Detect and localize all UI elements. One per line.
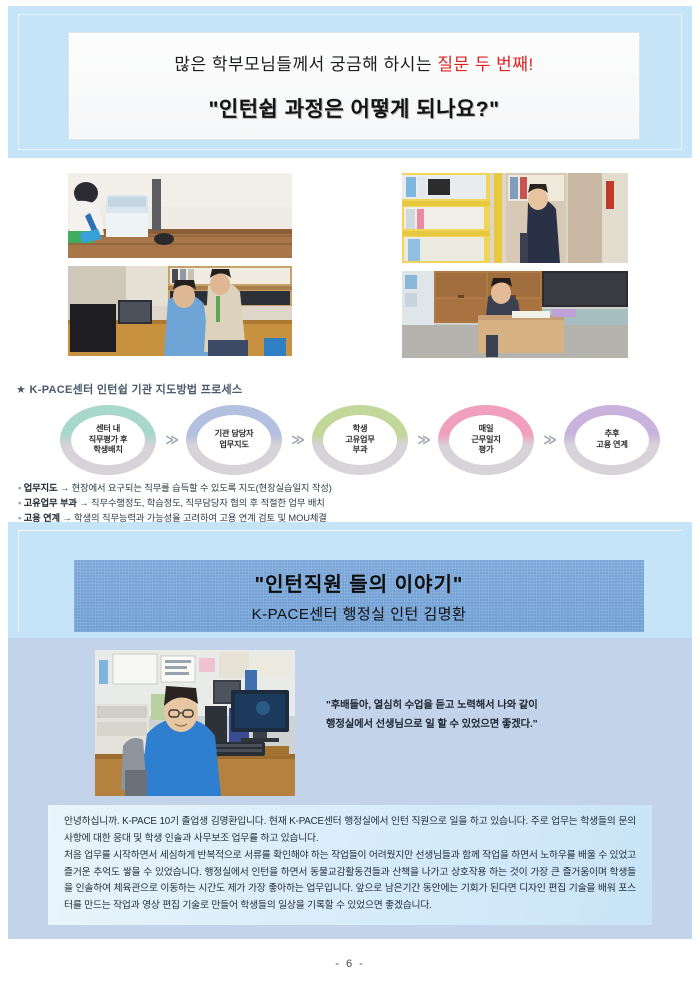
process-bullet-list: ▪ 업무지도 → 현장에서 요구되는 직무를 습득할 수 있도록 지도(현장실습… [18,481,538,526]
process-diagram: 센터 내 직무평가 후 학생배치 ≫ 기관 담당자 업무지도 ≫ 학생 고유업무… [60,404,660,476]
intern-body-paragraph-1: 안녕하십니까. K-PACE 10기 졸업생 김명환입니다. 현재 K-PACE… [64,814,636,848]
newsletter-page: 많은 학부모님들께서 궁금해 하시는 질문 두 번째! "인턴쉽 과정은 어떻게… [0,0,700,991]
photo-library-shelving [402,173,628,263]
intern-body-text-box: 안녕하십니까. K-PACE 10기 졸업생 김명환입니다. 현재 K-PACE… [48,805,652,925]
step4-line2: 근무일지 [471,435,500,446]
photo-grid [68,173,628,358]
process-step-5: 추후 고용 연계 [564,405,660,475]
page-number: - 6 - [0,958,700,970]
header-band: 많은 학부모님들께서 궁금해 하시는 질문 두 번째! "인턴쉽 과정은 어떻게… [8,6,692,158]
photo-desk-paperwork [402,271,628,358]
step3-line1: 학생 [345,424,374,435]
story-subtitle: K-PACE센터 행정실 인턴 김명환 [252,603,467,624]
step3-line2: 고유업무 [345,435,374,446]
process-arrow-3: ≫ [408,432,438,448]
intern-story-band: "후배들아, 열심히 수업을 듣고 노력해서 나와 같이 행정실에서 선생님으로… [8,638,692,939]
story-title: "인턴직원 들의 이야기" [255,568,464,597]
step1-line1: 센터 내 [89,424,128,435]
process-step-4-label: 매일 근무일지 평가 [471,424,500,456]
intern-quote-line-2: 행정실에서 선생님으로 일 할 수 있었으면 좋겠다." [326,715,656,734]
bullet-term-1: 업무지도 [24,483,58,493]
step1-line2: 직무평가 후 [89,435,128,446]
header-line-2: "인턴쉽 과정은 어떻게 되나요?" [208,93,499,123]
process-arrow-4: ≫ [534,432,564,448]
intern-portrait-photo [95,650,295,796]
step1-line3: 학생배치 [89,445,128,456]
step4-line1: 매일 [471,424,500,435]
step2-line1: 기관 담당자 [215,429,254,440]
process-step-2: 기관 담당자 업무지도 [186,405,282,475]
step5-line2: 고용 연계 [596,440,627,451]
process-step-5-label: 추후 고용 연계 [596,429,627,451]
step2-line2: 업무지도 [215,440,254,451]
bullet-dot-icon: ▪ [18,498,21,508]
process-diagram-title: ★ K-PACE센터 인턴쉽 기관 지도방법 프로세스 [16,381,242,397]
bullet-rest-1: → 현장에서 요구되는 직무를 습득할 수 있도록 지도(현장실습일지 작성) [58,483,332,493]
process-arrow-1: ≫ [156,432,186,448]
process-step-3: 학생 고유업무 부과 [312,405,408,475]
photo-cleaning-shredder [68,173,292,258]
story-title-box: "인턴직원 들의 이야기" K-PACE센터 행정실 인턴 김명환 [74,560,644,632]
intern-quote-line-1: "후배들아, 열심히 수업을 듣고 노력해서 나와 같이 [326,696,656,715]
bullet-term-2: 고유업무 부과 [24,498,77,508]
intern-body-paragraph-2: 처음 업무를 시작하면서 세심하게 반복적으로 서류를 확인해야 하는 작업들이… [64,848,636,915]
process-step-2-label: 기관 담당자 업무지도 [215,429,254,451]
bullet-dot-icon: ▪ [18,483,21,493]
step4-line3: 평가 [471,445,500,456]
step3-line3: 부과 [345,445,374,456]
photo-office-computer-guidance [68,266,292,356]
bullet-item-1: ▪ 업무지도 → 현장에서 요구되는 직무를 습득할 수 있도록 지도(현장실습… [18,481,538,496]
step5-line1: 추후 [596,429,627,440]
process-step-1: 센터 내 직무평가 후 학생배치 [60,405,156,475]
bullet-rest-2: → 직무수행정도, 학습정도, 직무담당자 협의 후 적절한 업무 배치 [77,498,325,508]
story-band: "인턴직원 들의 이야기" K-PACE센터 행정실 인턴 김명환 [8,522,692,638]
bullet-item-2: ▪ 고유업무 부과 → 직무수행정도, 학습정도, 직무담당자 협의 후 적절한… [18,496,538,511]
header-line-1-prefix: 많은 학부모님들께서 궁금해 하시는 [174,55,437,74]
process-step-1-label: 센터 내 직무평가 후 학생배치 [89,424,128,456]
header-question-box: 많은 학부모님들께서 궁금해 하시는 질문 두 번째! "인턴쉽 과정은 어떻게… [68,32,640,140]
header-line-1: 많은 학부모님들께서 궁금해 하시는 질문 두 번째! [174,50,533,75]
header-line-1-highlight: 질문 두 번째! [437,55,533,74]
process-step-3-label: 학생 고유업무 부과 [345,424,374,456]
intern-quote: "후배들아, 열심히 수업을 듣고 노력해서 나와 같이 행정실에서 선생님으로… [326,696,656,734]
process-arrow-2: ≫ [282,432,312,448]
process-step-4: 매일 근무일지 평가 [438,405,534,475]
